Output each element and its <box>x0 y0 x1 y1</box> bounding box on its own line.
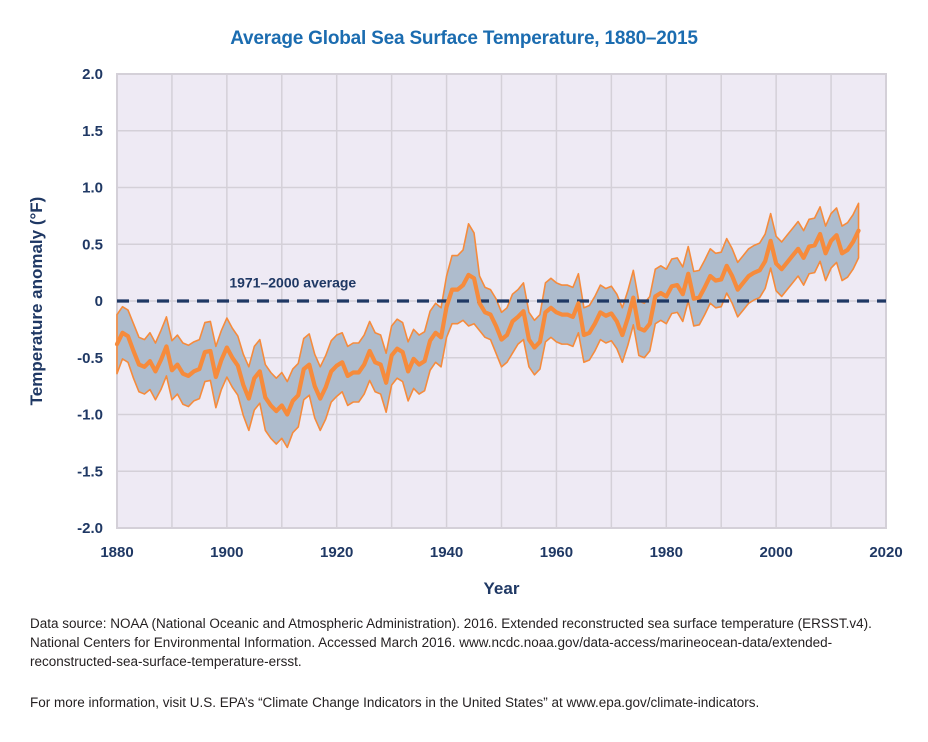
more-information-note: For more information, visit U.S. EPA’s “… <box>30 693 900 712</box>
y-axis-title: Temperature anomaly (°F) <box>27 197 46 406</box>
x-tick-label: 1960 <box>540 544 573 561</box>
reference-line-annotation: 1971–2000 average <box>229 274 356 290</box>
y-tick-label: -1.0 <box>77 407 103 424</box>
x-tick-label: 1940 <box>430 544 463 561</box>
x-tick-label: 2000 <box>759 544 792 561</box>
y-tick-label: -1.5 <box>77 463 103 480</box>
x-tick-label: 1880 <box>100 544 133 561</box>
chart-figure: Average Global Sea Surface Temperature, … <box>0 0 928 742</box>
x-tick-label: 1980 <box>650 544 683 561</box>
x-tick-label: 2020 <box>869 544 902 561</box>
x-axis-tick-labels: 18801900192019401960198020002020 <box>100 544 902 561</box>
plot-area-container: 2.01.51.00.50-0.5-1.0-1.5-2.0 1880190019… <box>0 60 928 600</box>
y-axis-tick-labels: 2.01.51.00.50-0.5-1.0-1.5-2.0 <box>77 66 103 537</box>
page-title: Average Global Sea Surface Temperature, … <box>0 28 928 50</box>
x-tick-label: 1900 <box>210 544 243 561</box>
annotation-label: 1971–2000 average <box>229 274 356 290</box>
y-tick-label: -2.0 <box>77 520 103 537</box>
y-tick-label: -0.5 <box>77 350 103 367</box>
y-tick-label: 1.5 <box>82 123 103 140</box>
y-tick-label: 0.5 <box>82 236 103 253</box>
y-tick-label: 2.0 <box>82 66 103 83</box>
data-source-note: Data source: NOAA (National Oceanic and … <box>30 614 900 671</box>
x-axis-title: Year <box>484 579 520 598</box>
y-tick-label: 1.0 <box>82 180 103 197</box>
y-tick-label: 0 <box>95 293 103 310</box>
x-tick-label: 1920 <box>320 544 353 561</box>
sea-surface-temperature-chart: 2.01.51.00.50-0.5-1.0-1.5-2.0 1880190019… <box>0 60 928 600</box>
footer: Data source: NOAA (National Oceanic and … <box>30 614 900 712</box>
